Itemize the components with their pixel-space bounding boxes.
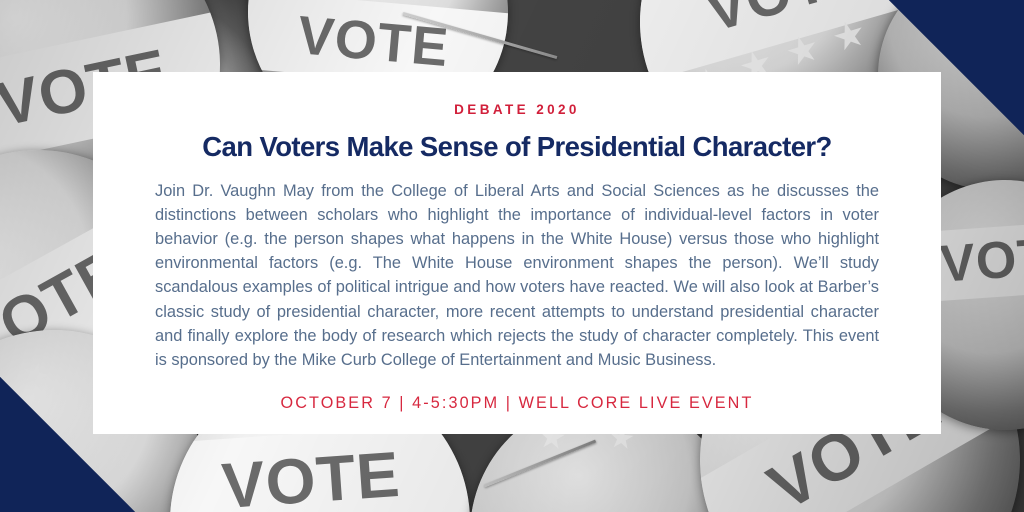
event-poster: VOTE VOTE VOTE <box>0 0 1024 512</box>
eyebrow-label: DEBATE 2020 <box>155 102 879 117</box>
event-details: OCTOBER 7 | 4-5:30PM | WELL CORE LIVE EV… <box>155 394 879 413</box>
page-title: Can Voters Make Sense of Presidential Ch… <box>155 131 879 163</box>
content-card: DEBATE 2020 Can Voters Make Sense of Pre… <box>93 72 941 434</box>
event-description: Join Dr. Vaughn May from the College of … <box>155 179 879 372</box>
